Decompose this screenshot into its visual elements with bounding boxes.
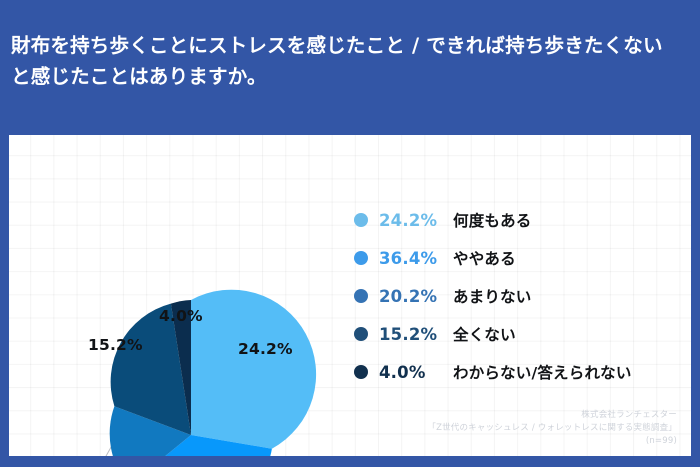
legend-item-4: 15.2% 全くない xyxy=(354,315,684,353)
legend-percent-5: 4.0% xyxy=(379,363,453,382)
pie-slice-1 xyxy=(191,290,316,449)
legend-percent-4: 15.2% xyxy=(379,325,453,344)
legend-item-5: 4.0% わからない/答えられない xyxy=(354,353,684,391)
legend-item-2: 36.4% ややある xyxy=(354,239,684,277)
legend-percent-3: 20.2% xyxy=(379,287,453,306)
pie-chart: 24.2% 36.4% 20.2% 15.2% 4.0% xyxy=(9,135,359,456)
legend-dot-icon-4 xyxy=(354,327,368,341)
chart-card: 24.2% 36.4% 20.2% 15.2% 4.0% 24.2% 何度もある… xyxy=(9,135,691,456)
page-title: 財布を持ち歩くことにストレスを感じたこと / できれば持ち歩きたくない と感じた… xyxy=(11,30,686,92)
infographic-poster: 財布を持ち歩くことにストレスを感じたこと / できれば持ち歩きたくない と感じた… xyxy=(0,0,700,467)
legend-label-5: わからない/答えられない xyxy=(453,361,632,383)
legend-label-3: あまりない xyxy=(453,285,532,307)
legend-percent-2: 36.4% xyxy=(379,249,453,268)
legend-label-2: ややある xyxy=(453,247,516,269)
credit-company: 株式会社ランチェスター xyxy=(427,409,677,422)
legend-label-1: 何度もある xyxy=(453,209,532,231)
legend-dot-icon-1 xyxy=(354,213,368,227)
legend-dot-icon-3 xyxy=(354,289,368,303)
pie-chart-svg xyxy=(9,135,359,456)
legend-percent-1: 24.2% xyxy=(379,211,453,230)
pie-label-4: 15.2% xyxy=(88,336,143,354)
legend-dot-icon-5 xyxy=(354,365,368,379)
credit-survey: 「Z世代のキャッシュレス / ウォレットレスに関する実態調査」 xyxy=(427,422,677,435)
legend-item-1: 24.2% 何度もある xyxy=(354,201,684,239)
pie-slices xyxy=(110,290,316,456)
legend-item-3: 20.2% あまりない xyxy=(354,277,684,315)
chart-legend: 24.2% 何度もある 36.4% ややある 20.2% あまりない 15.2%… xyxy=(354,201,684,391)
legend-dot-icon-2 xyxy=(354,251,368,265)
pie-label-5: 4.0% xyxy=(159,307,203,325)
legend-label-4: 全くない xyxy=(453,323,516,345)
header-banner: 財布を持ち歩くことにストレスを感じたこと / できれば持ち歩きたくない と感じた… xyxy=(0,0,700,131)
pie-label-1: 24.2% xyxy=(238,340,293,358)
credit-sample-size: (n=99) xyxy=(427,435,677,448)
source-credit: 株式会社ランチェスター 「Z世代のキャッシュレス / ウォレットレスに関する実態… xyxy=(427,409,677,448)
